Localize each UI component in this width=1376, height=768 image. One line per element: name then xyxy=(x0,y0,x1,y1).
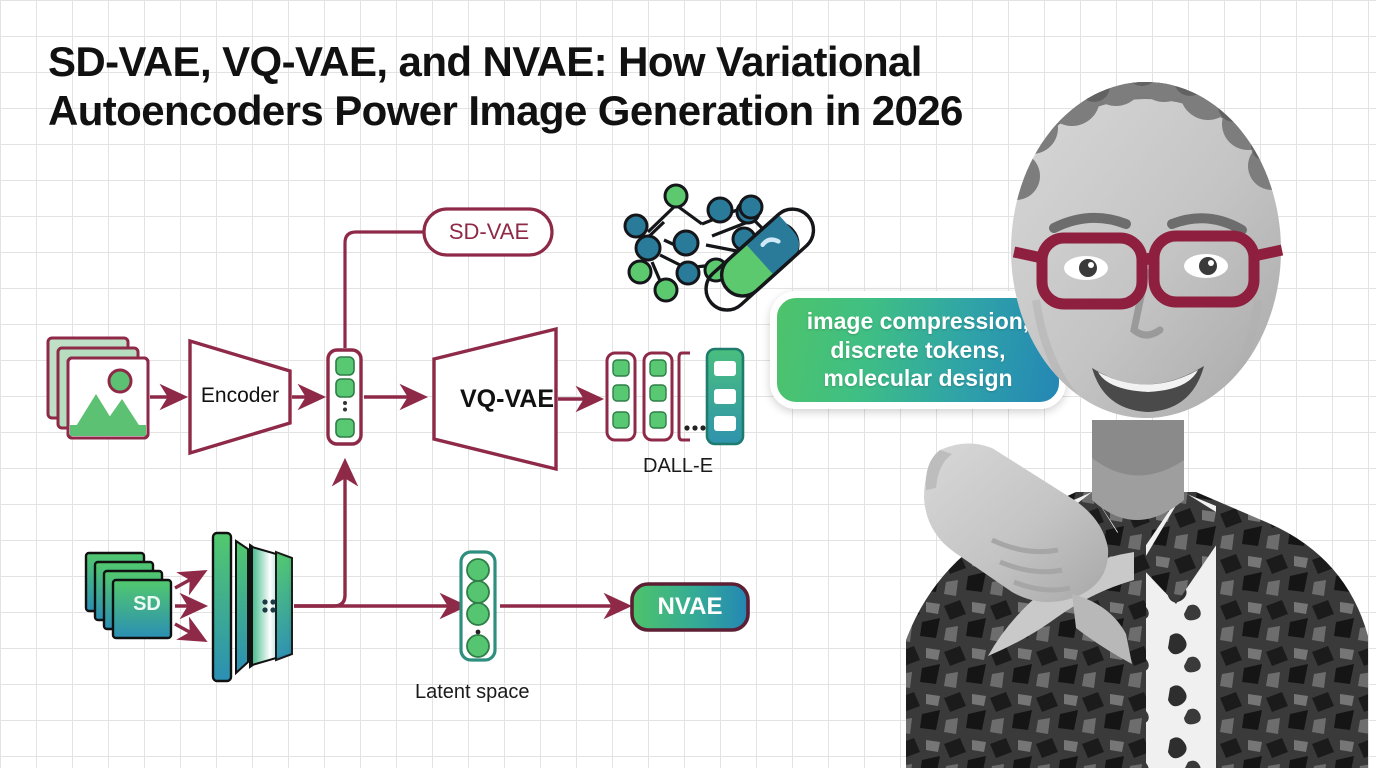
latent-token-column xyxy=(328,350,361,444)
callout-line-2: discrete tokens, xyxy=(807,336,1029,365)
latent-space-column xyxy=(461,552,495,660)
use-cases-callout: image compression, discrete tokens, mole… xyxy=(770,291,1066,409)
infographic-canvas: SD-VAE, VQ-VAE, and NVAE: How Variationa… xyxy=(0,0,1376,768)
tokens-ellipsis xyxy=(684,425,705,430)
callout-line-3: molecular design xyxy=(807,364,1029,393)
sd-card-label: SD xyxy=(126,591,168,617)
image-stack-icon xyxy=(48,338,148,438)
dalle-token-columns xyxy=(607,349,743,444)
sd-network-shape xyxy=(213,533,292,681)
connector-sdvae-to-latent xyxy=(345,232,424,348)
sd-vae-tag-label[interactable]: SD-VAE xyxy=(436,216,542,248)
arrows-sd-to-network xyxy=(175,572,204,640)
dalle-caption: DALL-E xyxy=(643,455,713,478)
latent-space-caption: Latent space xyxy=(415,681,530,704)
connector-sdnet-up-to-latent xyxy=(294,462,345,606)
nvae-label[interactable]: NVAE xyxy=(640,592,740,622)
callout-line-1: image compression, xyxy=(807,307,1029,336)
use-cases-callout-text: image compression, discrete tokens, mole… xyxy=(801,307,1035,394)
vqvae-label: VQ-VAE xyxy=(448,382,566,416)
encoder-label: Encoder xyxy=(192,380,288,412)
